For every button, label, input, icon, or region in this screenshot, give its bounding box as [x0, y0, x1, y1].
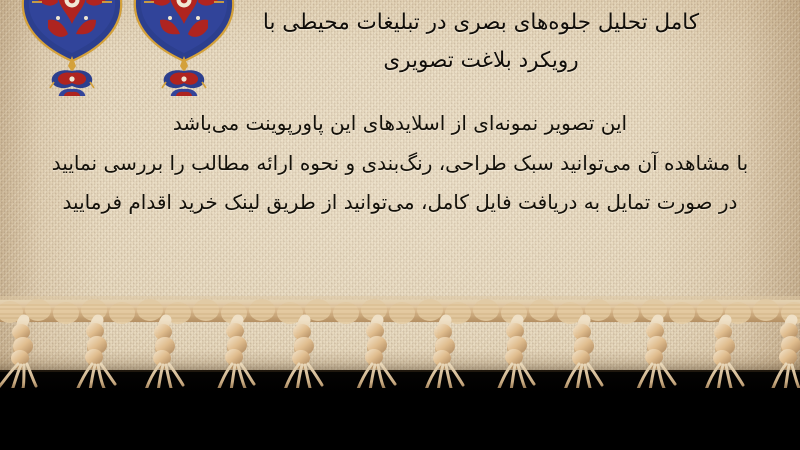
- title-line-2: رویکرد بلاغت تصویری: [170, 42, 792, 80]
- slide-canvas: کامل تحلیل جلوه‌های بصری در تبلیغات محیط…: [0, 0, 800, 450]
- body-line-1: این تصویر نمونه‌ای از اسلایدهای این پاور…: [6, 104, 794, 144]
- body-line-2: با مشاهده آن می‌توانید سبک طراحی، رنگ‌بن…: [6, 144, 794, 184]
- slide-title: کامل تحلیل جلوه‌های بصری در تبلیغات محیط…: [170, 4, 792, 80]
- carpet-fringe-tassels-icon: [0, 296, 800, 388]
- body-line-3: در صورت تمایل به دریافت فایل کامل، می‌تو…: [6, 183, 794, 223]
- title-line-1: کامل تحلیل جلوه‌های بصری در تبلیغات محیط…: [170, 4, 792, 42]
- slide-body: این تصویر نمونه‌ای از اسلایدهای این پاور…: [6, 104, 794, 223]
